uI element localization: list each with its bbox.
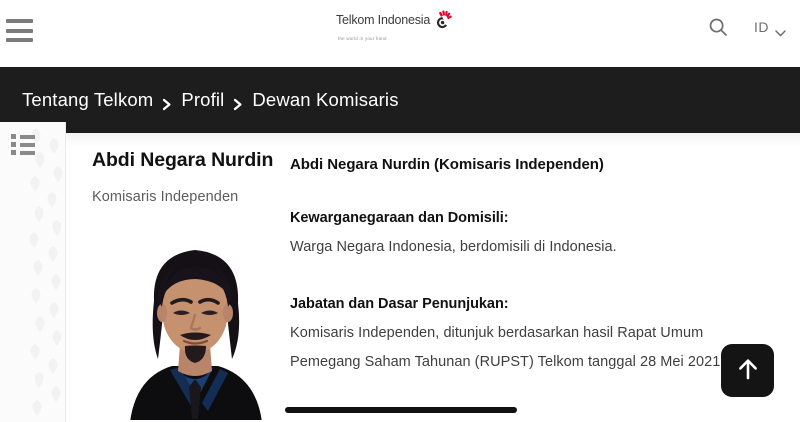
language-selected-label: ID [754,19,769,35]
list-bullet [11,150,16,155]
batik-pattern-decoration [26,122,66,422]
arrow-up-icon [737,357,759,384]
scroll-to-top-button[interactable] [721,344,774,397]
horizontal-scrollbar-thumb[interactable] [285,407,517,413]
chevron-down-icon [775,24,786,31]
language-selector[interactable]: ID [754,19,786,35]
main-content: Abdi Negara Nurdin Komisaris Independen [66,133,800,422]
brand-name: Telkom Indonesia [336,13,430,27]
list-bullet [11,134,16,139]
list-row [11,142,35,147]
hamburger-line [6,38,33,42]
profile-role: Komisaris Independen [92,189,276,205]
chevron-right-icon [162,94,172,107]
search-icon[interactable] [708,17,728,37]
breadcrumb-item-tentang-telkom[interactable]: Tentang Telkom [22,89,153,111]
detail-title: Abdi Negara Nurdin (Komisaris Independen… [290,154,760,175]
brand-logo[interactable]: Telkom Indonesia the [336,8,464,41]
list-menu-icon[interactable] [11,134,35,155]
hamburger-line [6,19,33,23]
profile-summary: Abdi Negara Nurdin Komisaris Independen [66,133,290,422]
chevron-right-icon [233,94,243,107]
list-line [20,151,35,155]
avatar [110,227,280,422]
portrait-photo [110,227,280,422]
hamburger-icon[interactable] [6,19,33,42]
section-body-kewarganegaraan: Warga Negara Indonesia, berdomisili di I… [290,233,760,261]
breadcrumb-item-dewan-komisaris[interactable]: Dewan Komisaris [252,89,398,111]
brand-tagline: the world in your hand [338,36,387,41]
list-line [20,135,35,139]
detail-inner: Abdi Negara Nurdin (Komisaris Independen… [290,154,760,376]
section-heading-jabatan: Jabatan dan Dasar Penunjukan: [290,296,760,312]
left-sidebar [0,122,66,422]
site-header: Telkom Indonesia the [0,0,800,67]
section-heading-kewarganegaraan: Kewarganegaraan dan Domisili: [290,210,760,226]
breadcrumb-item-profil[interactable]: Profil [181,89,224,111]
hamburger-line [6,29,33,33]
page-root: Telkom Indonesia the [0,0,800,422]
list-row [11,134,35,139]
list-line [20,143,35,147]
breadcrumb: Tentang Telkom Profil Dewan Komisaris [22,89,399,111]
brand-row: Telkom Indonesia [336,8,454,32]
breadcrumb-bar: Tentang Telkom Profil Dewan Komisaris [0,67,800,133]
section-body-jabatan: Komisaris Independen, ditunjuk berdasark… [290,319,760,376]
red-hand-logo-icon [430,8,454,32]
list-row [11,150,35,155]
page-title: Abdi Negara Nurdin [92,149,276,172]
list-bullet [11,142,16,147]
header-actions: ID [708,17,786,37]
